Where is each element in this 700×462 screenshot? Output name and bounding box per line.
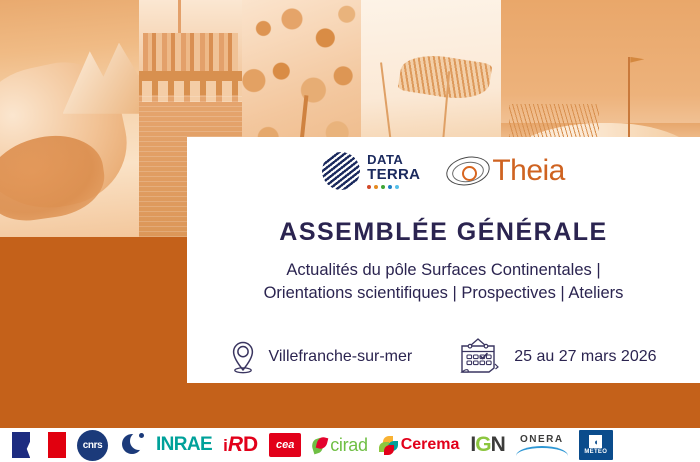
page-title: ASSEMBLÉE GÉNÉRALE <box>187 204 700 247</box>
data-terra-wordmark: DATA TERRA <box>367 153 420 189</box>
partner-meteo-france[interactable]: ◖ METEO <box>579 430 613 460</box>
theia-eye-icon <box>446 157 490 185</box>
location-group: Villefranche-sur-mer <box>230 340 412 374</box>
meteo-mark-icon: ◖ <box>589 435 602 448</box>
partner-republique-francaise[interactable] <box>12 432 66 458</box>
theia-wordmark: Theia <box>492 156 565 186</box>
cirad-leaf-icon <box>312 437 327 454</box>
subtitle-line-1: Actualités du pôle Surfaces Continentale… <box>187 259 700 282</box>
logo-row: DATA TERRA Theia <box>187 137 700 204</box>
onera-wordmark: ONERA <box>520 434 564 445</box>
meteo-wordmark: METEO <box>584 449 607 455</box>
cerema-wordmark: Cerema <box>401 436 460 454</box>
calendar-icon <box>456 337 502 377</box>
onera-arc-icon <box>516 446 568 456</box>
cerema-star-icon <box>379 436 398 454</box>
partner-cerema[interactable]: Cerema <box>379 436 460 454</box>
subtitle: Actualités du pôle Surfaces Continentale… <box>187 247 700 306</box>
date-text: 25 au 27 mars 2026 <box>514 348 656 366</box>
theia-logo[interactable]: Theia <box>446 156 565 186</box>
date-group: 25 au 27 mars 2026 <box>456 337 656 377</box>
event-info-card: DATA TERRA Theia ASSEMBLÉE GÉNÉRALE <box>187 137 700 383</box>
card-body: ASSEMBLÉE GÉNÉRALE Actualités du pôle Su… <box>187 204 700 383</box>
event-meta-row: Villefranche-sur-mer <box>187 337 700 377</box>
dot-1 <box>367 185 371 189</box>
data-terra-logo[interactable]: DATA TERRA <box>322 152 420 190</box>
photo-sand-dunes <box>0 0 139 237</box>
data-terra-line2: TERRA <box>367 167 420 182</box>
dot-4 <box>388 185 392 189</box>
data-terra-line1: DATA <box>367 153 403 166</box>
partner-ign[interactable]: IGN <box>470 433 504 457</box>
dot-3 <box>381 185 385 189</box>
cirad-wordmark: cirad <box>330 435 368 456</box>
partner-cirad[interactable]: cirad <box>312 435 368 456</box>
partner-inrae[interactable]: INRAE <box>156 434 212 456</box>
partner-onera[interactable]: ONERA <box>516 434 568 456</box>
partner-cnrs[interactable]: cnrs <box>77 430 108 461</box>
data-terra-color-dots <box>367 185 399 189</box>
partner-cea[interactable]: cea <box>269 433 301 457</box>
map-pin-icon <box>230 340 256 374</box>
event-poster: DATA TERRA Theia ASSEMBLÉE GÉNÉRALE <box>0 0 700 462</box>
dot-2 <box>374 185 378 189</box>
subtitle-line-2: Orientations scientifiques | Prospective… <box>187 282 700 305</box>
partner-logo-strip: cnrs INRAE iRD cea cirad Cerema IGN ONER… <box>0 428 700 462</box>
partner-ird[interactable]: iRD <box>223 433 258 457</box>
location-text: Villefranche-sur-mer <box>268 348 412 366</box>
partner-cnes[interactable] <box>119 432 145 458</box>
data-terra-striped-globe-icon <box>322 152 360 190</box>
dot-5 <box>395 185 399 189</box>
